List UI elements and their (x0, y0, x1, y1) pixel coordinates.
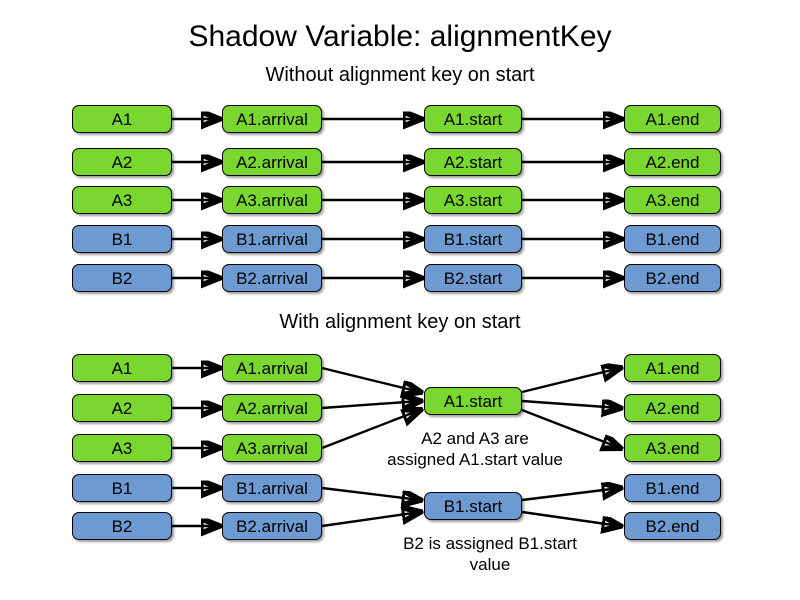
node-a1-end-bottom-label: A1.end (646, 360, 700, 377)
node-b2-start-top: B2.start (424, 264, 522, 292)
node-a3-end-bottom: A3.end (624, 434, 721, 462)
note-a-assignment: A2 and A3 are assigned A1.start value (330, 428, 620, 470)
node-a3-entity-bottom-label: A3 (112, 440, 133, 457)
node-b2-arrival-top: B2.arrival (222, 264, 322, 292)
edge-b1-arrival-to-shared-start (322, 488, 420, 500)
section-heading-without-alignment-key: Without alignment key on start (0, 64, 800, 87)
edge-a1-arrival-to-shared-start (322, 368, 420, 392)
node-b1-start-shared: B1.start (424, 492, 522, 520)
node-a3-arrival-top: A3.arrival (222, 186, 322, 214)
node-b1-entity-bottom: B1 (72, 474, 172, 502)
note-b-line1: B2 is assigned B1.start (340, 533, 640, 554)
node-a2-entity-top-label: A2 (112, 154, 133, 171)
node-a1-start-top: A1.start (424, 105, 522, 133)
node-a2-arrival-bottom-label: A2.arrival (236, 400, 308, 417)
node-a3-start-top-label: A3.start (444, 192, 503, 209)
node-a3-arrival-bottom: A3.arrival (222, 434, 322, 462)
node-b2-end-top: B2.end (624, 264, 721, 292)
node-b1-arrival-top: B1.arrival (222, 225, 322, 253)
node-b1-arrival-top-label: B1.arrival (236, 231, 308, 248)
node-b1-end-bottom-label: B1.end (646, 480, 700, 497)
node-a1-entity-bottom: A1 (72, 354, 172, 382)
node-b2-end-bottom: B2.end (624, 512, 721, 540)
node-a2-entity-bottom-label: A2 (112, 400, 133, 417)
node-b1-entity-top-label: B1 (112, 231, 133, 248)
node-a2-end-bottom: A2.end (624, 394, 721, 422)
edge-shared-start-to-b2-end (522, 512, 620, 526)
node-a1-arrival-bottom: A1.arrival (222, 354, 322, 382)
edge-shared-start-to-a2-end (522, 401, 620, 408)
node-b1-entity-top: B1 (72, 225, 172, 253)
node-a2-entity-bottom: A2 (72, 394, 172, 422)
node-a1-end-bottom: A1.end (624, 354, 721, 382)
node-a2-start-top-label: A2.start (444, 154, 503, 171)
node-a1-arrival-top: A1.arrival (222, 105, 322, 133)
node-b1-start-top-label: B1.start (444, 231, 503, 248)
node-a2-entity-top: A2 (72, 148, 172, 176)
node-a2-end-top-label: A2.end (646, 154, 700, 171)
note-b-line2: value (340, 554, 640, 575)
node-a2-arrival-top: A2.arrival (222, 148, 322, 176)
node-a3-start-top: A3.start (424, 186, 522, 214)
node-a1-arrival-top-label: A1.arrival (236, 111, 308, 128)
node-a3-end-top: A3.end (624, 186, 721, 214)
edge-a2-arrival-to-shared-start (322, 401, 420, 408)
edge-b2-arrival-to-shared-start (322, 512, 420, 526)
node-a3-entity-top-label: A3 (112, 192, 133, 209)
node-b2-entity-bottom-label: B2 (112, 518, 133, 535)
node-b2-arrival-top-label: B2.arrival (236, 270, 308, 287)
page-title: Shadow Variable: alignmentKey (0, 20, 800, 54)
node-b2-entity-top: B2 (72, 264, 172, 292)
node-a3-entity-top: A3 (72, 186, 172, 214)
node-a3-arrival-bottom-label: A3.arrival (236, 440, 308, 457)
node-b1-end-top-label: B1.end (646, 231, 700, 248)
node-a2-start-top: A2.start (424, 148, 522, 176)
node-a2-arrival-bottom: A2.arrival (222, 394, 322, 422)
note-a-line1: A2 and A3 are (330, 428, 620, 449)
node-b2-entity-top-label: B2 (112, 270, 133, 287)
node-b2-start-top-label: B2.start (444, 270, 503, 287)
node-b1-end-bottom: B1.end (624, 474, 721, 502)
node-a1-end-top-label: A1.end (646, 111, 700, 128)
node-b2-end-bottom-label: B2.end (646, 518, 700, 535)
node-a1-arrival-bottom-label: A1.arrival (236, 360, 308, 377)
node-b1-entity-bottom-label: B1 (112, 480, 133, 497)
section-heading-with-alignment-key: With alignment key on start (0, 311, 800, 334)
node-b1-end-top: B1.end (624, 225, 721, 253)
node-b2-end-top-label: B2.end (646, 270, 700, 287)
note-b-assignment: B2 is assigned B1.start value (340, 533, 640, 575)
node-a3-entity-bottom: A3 (72, 434, 172, 462)
node-b1-arrival-bottom: B1.arrival (222, 474, 322, 502)
note-a-line2: assigned A1.start value (330, 449, 620, 470)
node-a2-arrival-top-label: A2.arrival (236, 154, 308, 171)
node-b1-start-top: B1.start (424, 225, 522, 253)
node-a1-start-shared-label: A1.start (444, 393, 503, 410)
node-a3-end-bottom-label: A3.end (646, 440, 700, 457)
edge-shared-start-to-b1-end (522, 488, 620, 500)
edge-shared-start-to-a1-end (522, 368, 620, 392)
node-b2-arrival-bottom: B2.arrival (222, 512, 322, 540)
node-a3-arrival-top-label: A3.arrival (236, 192, 308, 209)
node-a1-entity-top-label: A1 (112, 111, 133, 128)
node-a1-end-top: A1.end (624, 105, 721, 133)
node-b1-start-shared-label: B1.start (444, 498, 503, 515)
node-a2-end-top: A2.end (624, 148, 721, 176)
node-a2-end-bottom-label: A2.end (646, 400, 700, 417)
node-b1-arrival-bottom-label: B1.arrival (236, 480, 308, 497)
edges-without-alignment-key (0, 0, 800, 600)
node-a3-end-top-label: A3.end (646, 192, 700, 209)
node-a1-entity-top: A1 (72, 105, 172, 133)
node-a1-entity-bottom-label: A1 (112, 360, 133, 377)
node-b2-arrival-bottom-label: B2.arrival (236, 518, 308, 535)
node-b2-entity-bottom: B2 (72, 512, 172, 540)
diagram-canvas: Shadow Variable: alignmentKey Without al… (0, 0, 800, 600)
node-a1-start-shared: A1.start (424, 387, 522, 415)
edges-with-alignment-key (0, 0, 800, 600)
node-a1-start-top-label: A1.start (444, 111, 503, 128)
